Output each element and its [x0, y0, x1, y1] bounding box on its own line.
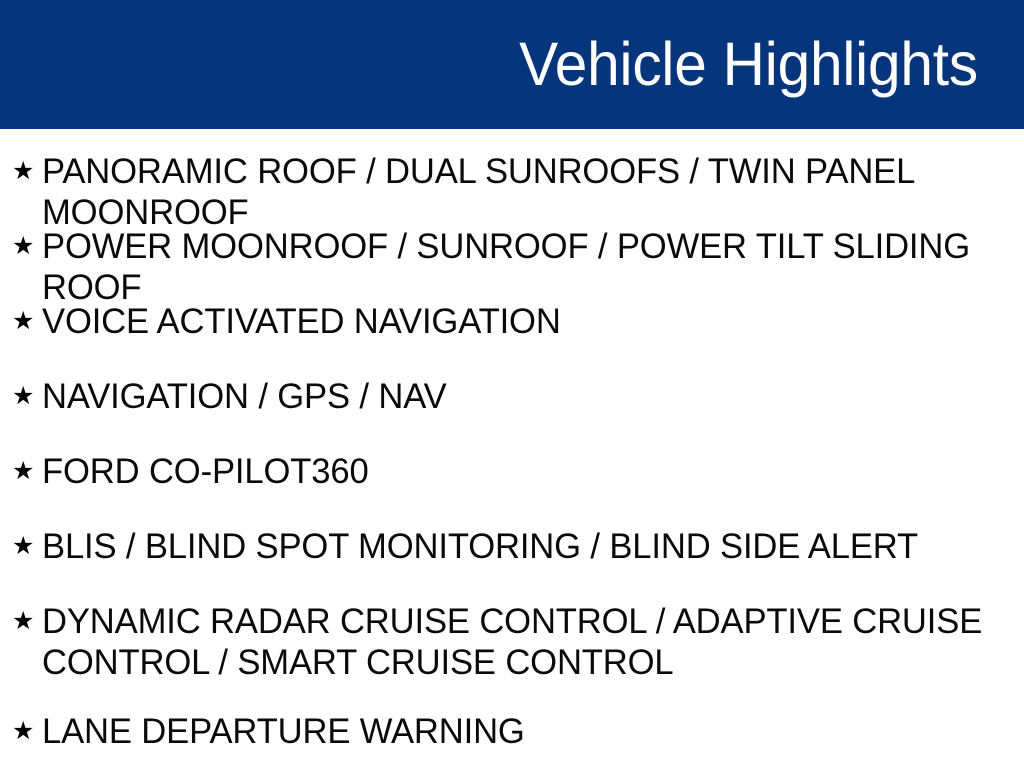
- list-item: ★ VOICE ACTIVATED NAVIGATION: [12, 301, 1012, 342]
- star-bullet-icon: ★: [12, 226, 42, 267]
- list-item-label: VOICE ACTIVATED NAVIGATION: [42, 301, 988, 342]
- star-bullet-icon: ★: [12, 376, 42, 417]
- list-item: ★ POWER MOONROOF / SUNROOF / POWER TILT …: [12, 226, 1012, 308]
- header-bar: Vehicle Highlights: [0, 0, 1024, 129]
- star-bullet-icon: ★: [12, 451, 42, 492]
- star-bullet-icon: ★: [12, 601, 42, 642]
- list-item: ★ FORD CO-PILOT360: [12, 451, 1012, 492]
- star-bullet-icon: ★: [12, 151, 42, 192]
- list-item: ★ PANORAMIC ROOF / DUAL SUNROOFS / TWIN …: [12, 151, 1012, 233]
- star-bullet-icon: ★: [12, 301, 42, 342]
- list-item: ★ DYNAMIC RADAR CRUISE CONTROL / ADAPTIV…: [12, 601, 1012, 683]
- list-item-label: BLIS / BLIND SPOT MONITORING / BLIND SID…: [42, 526, 988, 567]
- list-item-label: DYNAMIC RADAR CRUISE CONTROL / ADAPTIVE …: [42, 601, 988, 683]
- list-item: ★ BLIS / BLIND SPOT MONITORING / BLIND S…: [12, 526, 1012, 567]
- list-item-label: LANE DEPARTURE WARNING: [42, 711, 988, 752]
- list-item-label: PANORAMIC ROOF / DUAL SUNROOFS / TWIN PA…: [42, 151, 988, 233]
- star-bullet-icon: ★: [12, 711, 42, 752]
- page-title: Vehicle Highlights: [519, 34, 978, 95]
- star-bullet-icon: ★: [12, 526, 42, 567]
- list-item-label: NAVIGATION / GPS / NAV: [42, 376, 988, 417]
- list-item-label: POWER MOONROOF / SUNROOF / POWER TILT SL…: [42, 226, 988, 308]
- list-item: ★ LANE DEPARTURE WARNING: [12, 711, 1012, 752]
- list-item: ★ NAVIGATION / GPS / NAV: [12, 376, 1012, 417]
- list-item-label: FORD CO-PILOT360: [42, 451, 988, 492]
- vehicle-highlights-slide: Vehicle Highlights ★ PANORAMIC ROOF / DU…: [0, 0, 1024, 768]
